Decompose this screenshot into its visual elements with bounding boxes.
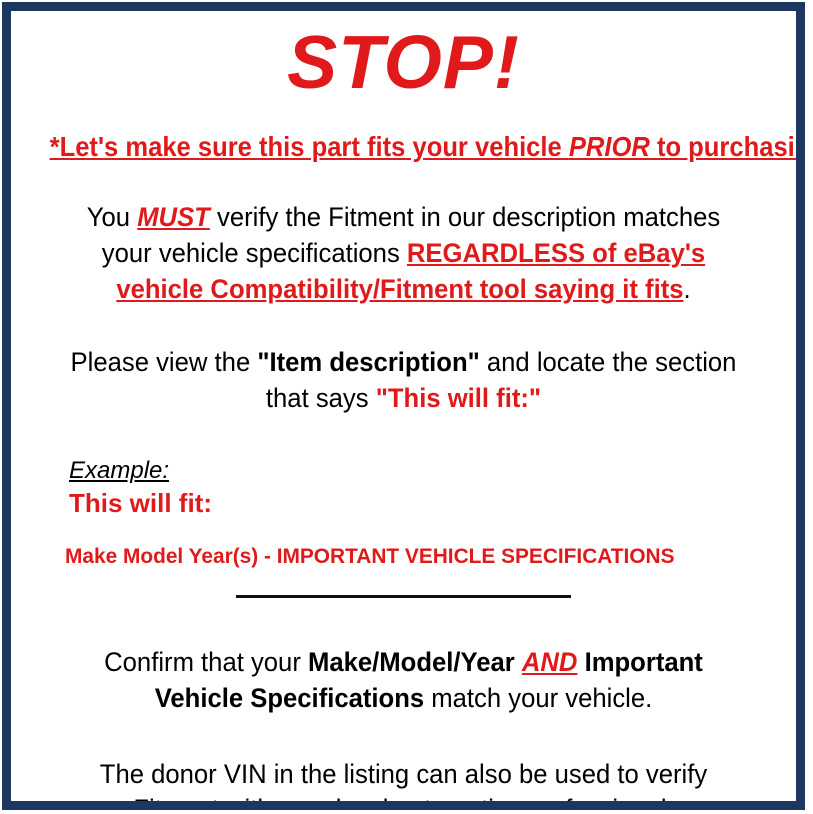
make-model-year-emphasis: Make/Model/Year [308,647,515,677]
subtitle-text-before: *Let's make sure this part fits your veh… [50,131,569,162]
divider-wrapper [23,595,784,609]
please-text-1: Please view the [71,347,258,377]
item-description-emphasis: "Item description" [257,347,479,377]
subtitle-prior-emphasis: PRIOR [569,131,650,162]
example-fits-heading: This will fit: [69,488,784,519]
confirm-text-2: match your vehicle. [424,683,652,713]
must-emphasis: MUST [137,202,210,232]
example-spec-line: Make Model Year(s) - IMPORTANT VEHICLE S… [65,544,762,570]
notice-content: STOP! *Let's make sure this part fits yo… [11,25,796,810]
subtitle-line: *Let's make sure this part fits your veh… [50,132,758,162]
fitment-notice-frame: STOP! *Let's make sure this part fits yo… [2,2,805,810]
must-period: . [684,274,691,304]
paragraph-donor-vin: The donor VIN in the listing can also be… [42,757,765,810]
example-block: Example: This will fit: Make Model Year(… [23,456,784,569]
subtitle-text-after: to purchasing* [650,131,805,162]
horizontal-divider [236,595,571,598]
paragraph-please-view: Please view the "Item description" and l… [42,345,765,416]
paragraph-must-verify: You MUST verify the Fitment in our descr… [42,200,765,307]
this-will-fit-quote: "This will fit:" [376,383,541,413]
example-label: Example: [69,456,784,486]
must-text-1: You [87,202,137,232]
confirm-text-1: Confirm that your [104,647,308,677]
stop-heading: STOP! [23,25,784,100]
and-emphasis: AND [522,647,578,677]
paragraph-confirm: Confirm that your Make/Model/Year AND Im… [42,645,765,716]
